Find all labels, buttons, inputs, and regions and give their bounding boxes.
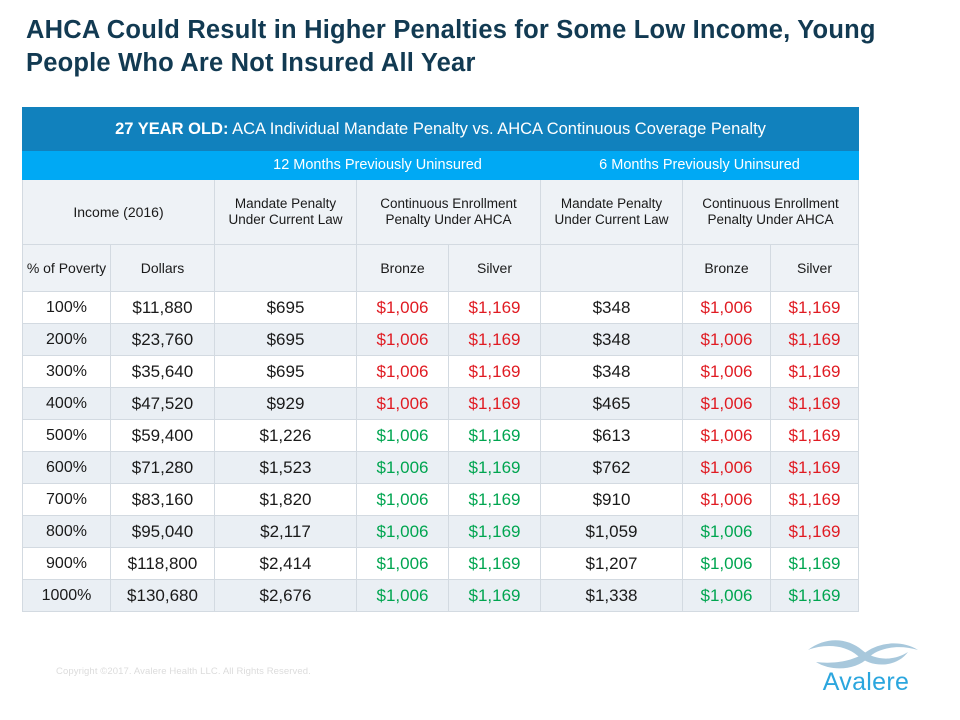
cell-poverty: 400% <box>23 388 111 420</box>
cell-dollars: $11,880 <box>111 292 215 324</box>
cell-silver-6: $1,169 <box>771 356 859 388</box>
cell-silver-12: $1,169 <box>449 388 541 420</box>
copyright-notice: Copyright ©2017. Avalere Health LLC. All… <box>56 666 311 677</box>
cell-bronze-6: $1,006 <box>683 516 771 548</box>
cell-silver-12: $1,169 <box>449 484 541 516</box>
cell-mandate-6: $762 <box>541 452 683 484</box>
cell-silver-6: $1,169 <box>771 388 859 420</box>
cell-dollars: $35,640 <box>111 356 215 388</box>
subheader-dollars: Dollars <box>111 245 215 292</box>
table-row: 1000%$130,680$2,676$1,006$1,169$1,338$1,… <box>23 580 859 612</box>
cell-silver-12: $1,169 <box>449 580 541 612</box>
cell-silver-6: $1,169 <box>771 452 859 484</box>
subheader-bronze-6: Bronze <box>683 245 771 292</box>
cell-mandate-12: $695 <box>215 324 357 356</box>
cell-dollars: $59,400 <box>111 420 215 452</box>
table-row: 200%$23,760$695$1,006$1,169$348$1,006$1,… <box>23 324 859 356</box>
cell-mandate-6: $1,207 <box>541 548 683 580</box>
header-continuous-6: Continuous Enrollment Penalty Under AHCA <box>683 180 859 245</box>
cell-mandate-6: $348 <box>541 324 683 356</box>
cell-poverty: 500% <box>23 420 111 452</box>
cell-bronze-6: $1,006 <box>683 292 771 324</box>
cell-silver-6: $1,169 <box>771 420 859 452</box>
cell-silver-6: $1,169 <box>771 484 859 516</box>
table-banner-row: 27 YEAR OLD: ACA Individual Mandate Pena… <box>23 108 859 151</box>
cell-poverty: 800% <box>23 516 111 548</box>
cell-mandate-6: $348 <box>541 292 683 324</box>
subheader-spacer-mandate-12 <box>215 245 357 292</box>
cell-mandate-12: $2,117 <box>215 516 357 548</box>
cell-silver-6: $1,169 <box>771 292 859 324</box>
cell-mandate-12: $695 <box>215 292 357 324</box>
subheader-silver-12: Silver <box>449 245 541 292</box>
cell-silver-12: $1,169 <box>449 292 541 324</box>
cell-mandate-12: $929 <box>215 388 357 420</box>
sub-header-row: % of Poverty Dollars Bronze Silver Bronz… <box>23 245 859 292</box>
cell-bronze-12: $1,006 <box>357 324 449 356</box>
cell-bronze-6: $1,006 <box>683 388 771 420</box>
cell-poverty: 300% <box>23 356 111 388</box>
cell-poverty: 1000% <box>23 580 111 612</box>
table-row: 300%$35,640$695$1,006$1,169$348$1,006$1,… <box>23 356 859 388</box>
avalere-wordmark: Avalere <box>800 668 932 697</box>
cell-bronze-12: $1,006 <box>357 516 449 548</box>
subheader-bronze-12: Bronze <box>357 245 449 292</box>
avalere-logo: Avalere <box>800 634 932 700</box>
table-banner: 27 YEAR OLD: ACA Individual Mandate Pena… <box>23 108 859 151</box>
table-row: 600%$71,280$1,523$1,006$1,169$762$1,006$… <box>23 452 859 484</box>
cell-bronze-6: $1,006 <box>683 484 771 516</box>
table-row: 400%$47,520$929$1,006$1,169$465$1,006$1,… <box>23 388 859 420</box>
table-row: 900%$118,800$2,414$1,006$1,169$1,207$1,0… <box>23 548 859 580</box>
cell-bronze-6: $1,006 <box>683 580 771 612</box>
cell-bronze-12: $1,006 <box>357 292 449 324</box>
cell-silver-6: $1,169 <box>771 548 859 580</box>
cell-mandate-6: $910 <box>541 484 683 516</box>
subheader-spacer-mandate-6 <box>541 245 683 292</box>
cell-dollars: $83,160 <box>111 484 215 516</box>
group-header-row: 12 Months Previously Uninsured 6 Months … <box>23 151 859 180</box>
cell-silver-12: $1,169 <box>449 420 541 452</box>
cell-silver-12: $1,169 <box>449 356 541 388</box>
cell-bronze-12: $1,006 <box>357 388 449 420</box>
cell-poverty: 600% <box>23 452 111 484</box>
subheader-silver-6: Silver <box>771 245 859 292</box>
cell-dollars: $71,280 <box>111 452 215 484</box>
cell-bronze-6: $1,006 <box>683 356 771 388</box>
cell-poverty: 700% <box>23 484 111 516</box>
cell-mandate-6: $1,338 <box>541 580 683 612</box>
cell-bronze-12: $1,006 <box>357 356 449 388</box>
cell-silver-6: $1,169 <box>771 324 859 356</box>
cell-mandate-12: $1,820 <box>215 484 357 516</box>
cell-silver-12: $1,169 <box>449 452 541 484</box>
cell-silver-12: $1,169 <box>449 324 541 356</box>
cell-bronze-6: $1,006 <box>683 420 771 452</box>
header-income: Income (2016) <box>23 180 215 245</box>
penalty-comparison-table: 27 YEAR OLD: ACA Individual Mandate Pena… <box>22 107 859 612</box>
table-row: 800%$95,040$2,117$1,006$1,169$1,059$1,00… <box>23 516 859 548</box>
group-spacer-dollars <box>111 151 215 180</box>
header-mandate-12: Mandate Penalty Under Current Law <box>215 180 357 245</box>
cell-mandate-6: $465 <box>541 388 683 420</box>
banner-age-label: 27 YEAR OLD: <box>115 120 228 138</box>
cell-silver-12: $1,169 <box>449 516 541 548</box>
table-row: 500%$59,400$1,226$1,006$1,169$613$1,006$… <box>23 420 859 452</box>
cell-dollars: $47,520 <box>111 388 215 420</box>
cell-bronze-12: $1,006 <box>357 548 449 580</box>
cell-bronze-6: $1,006 <box>683 452 771 484</box>
banner-description: ACA Individual Mandate Penalty vs. AHCA … <box>228 120 765 138</box>
header-continuous-12: Continuous Enrollment Penalty Under AHCA <box>357 180 541 245</box>
cell-mandate-12: $2,676 <box>215 580 357 612</box>
cell-silver-6: $1,169 <box>771 580 859 612</box>
cell-bronze-12: $1,006 <box>357 452 449 484</box>
cell-mandate-12: $2,414 <box>215 548 357 580</box>
column-header-row: Income (2016) Mandate Penalty Under Curr… <box>23 180 859 245</box>
cell-silver-12: $1,169 <box>449 548 541 580</box>
table-row: 700%$83,160$1,820$1,006$1,169$910$1,006$… <box>23 484 859 516</box>
cell-mandate-6: $348 <box>541 356 683 388</box>
group-header-12-months: 12 Months Previously Uninsured <box>215 151 541 180</box>
cell-poverty: 900% <box>23 548 111 580</box>
cell-dollars: $95,040 <box>111 516 215 548</box>
cell-bronze-6: $1,006 <box>683 324 771 356</box>
cell-mandate-6: $613 <box>541 420 683 452</box>
cell-bronze-6: $1,006 <box>683 548 771 580</box>
cell-dollars: $118,800 <box>111 548 215 580</box>
cell-mandate-12: $1,523 <box>215 452 357 484</box>
cell-silver-6: $1,169 <box>771 516 859 548</box>
cell-poverty: 100% <box>23 292 111 324</box>
cell-mandate-12: $1,226 <box>215 420 357 452</box>
cell-bronze-12: $1,006 <box>357 580 449 612</box>
cell-mandate-6: $1,059 <box>541 516 683 548</box>
group-spacer-poverty <box>23 151 111 180</box>
cell-bronze-12: $1,006 <box>357 484 449 516</box>
cell-dollars: $23,760 <box>111 324 215 356</box>
cell-mandate-12: $695 <box>215 356 357 388</box>
subheader-poverty: % of Poverty <box>23 245 111 292</box>
table-row: 100%$11,880$695$1,006$1,169$348$1,006$1,… <box>23 292 859 324</box>
cell-bronze-12: $1,006 <box>357 420 449 452</box>
cell-poverty: 200% <box>23 324 111 356</box>
cell-dollars: $130,680 <box>111 580 215 612</box>
group-header-6-months: 6 Months Previously Uninsured <box>541 151 859 180</box>
header-mandate-6: Mandate Penalty Under Current Law <box>541 180 683 245</box>
page-title: AHCA Could Result in Higher Penalties fo… <box>26 14 926 80</box>
